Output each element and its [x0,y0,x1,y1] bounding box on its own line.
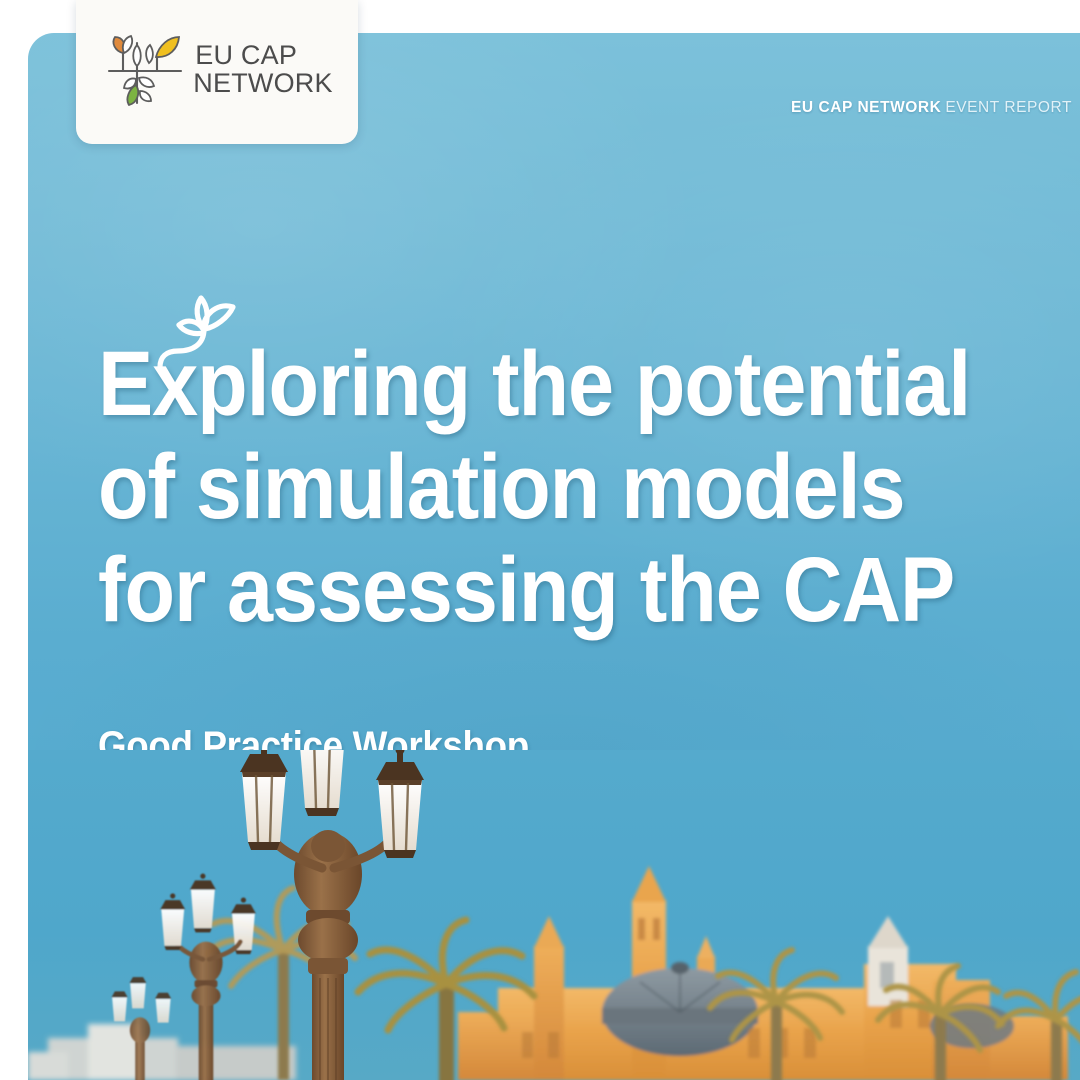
title-line-1: Exploring the potential [98,333,935,436]
header-section-label: EVENT REPORT [945,99,1072,116]
logo-line-1: EU CAP [195,42,332,70]
eu-cap-network-logo-card: EU CAP NETWORK [76,0,358,144]
cover-blue-panel: EU CAP NETWORKEVENT REPORT Exploring the… [28,33,1080,1080]
title-line-2: of simulation models [98,436,935,539]
header-brand-label: EU CAP NETWORK [791,99,941,116]
logo-line-2: NETWORK [193,70,332,98]
title-line-3: for assessing the CAP [98,539,935,642]
header-kicker: EU CAP NETWORKEVENT REPORT [791,99,1072,117]
logo-wordmark: EU CAP NETWORK [195,42,332,97]
bari-waterfront-photo [28,750,1080,1080]
page-title: Exploring the potential of simulation mo… [98,333,935,642]
report-cover-page: EU CAP NETWORKEVENT REPORT Exploring the… [0,0,1080,1080]
sprout-branch-leaves-icon [103,33,187,107]
